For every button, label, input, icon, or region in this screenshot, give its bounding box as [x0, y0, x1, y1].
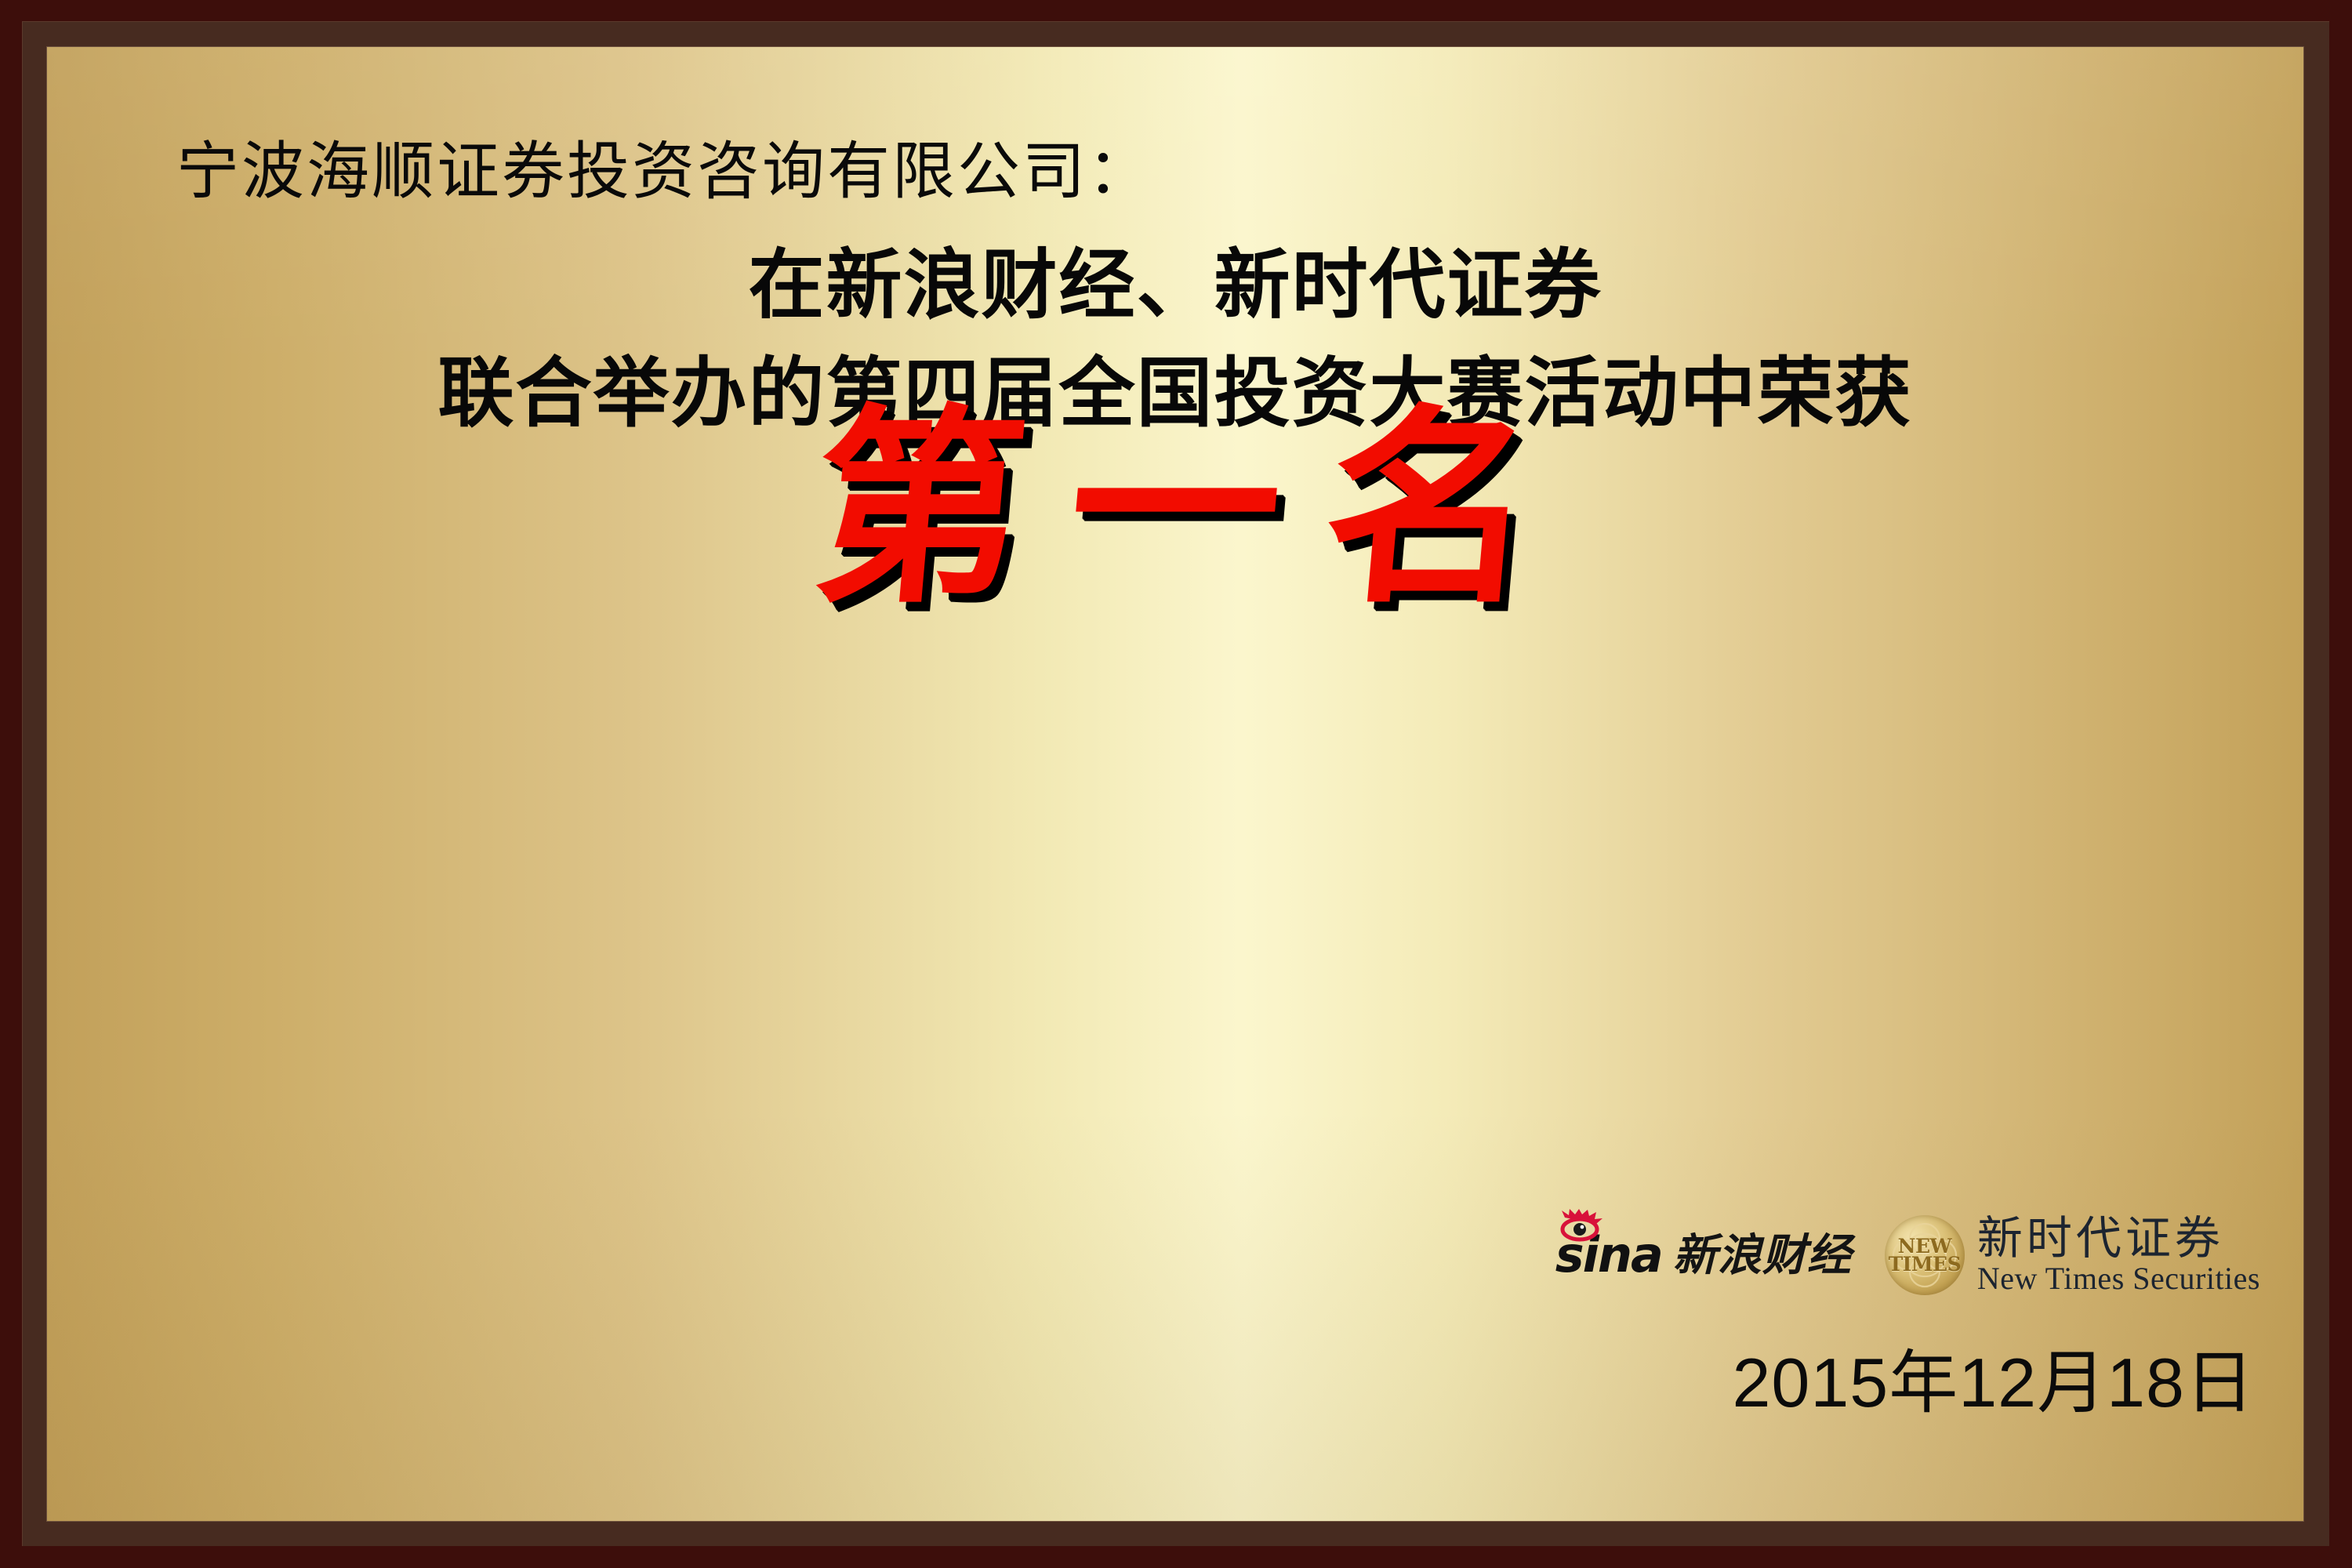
citation-line-1: 在新浪财经、新时代证券: [47, 231, 2303, 339]
recipient-salutation: 宁波海顺证券投资咨询有限公司：: [176, 141, 1152, 204]
medallion-label-line-2: TIMES: [1889, 1255, 1962, 1273]
new-times-name-block: 新时代证券 New Times Securities: [1977, 1216, 2260, 1294]
sponsor-logo-row: sina 新浪财经: [1555, 1215, 2260, 1295]
sina-chinese-name: 新浪财经: [1673, 1236, 1852, 1275]
plaque-face: 宁波海顺证券投资咨询有限公司： 在新浪财经、新时代证券 联合举办的第四届全国投资…: [46, 46, 2304, 1522]
award-date: 2015年12月18日: [1732, 1348, 2255, 1417]
plaque-outer-frame: 宁波海顺证券投资咨询有限公司： 在新浪财经、新时代证券 联合举办的第四届全国投资…: [0, 0, 2352, 1568]
sina-wordmark-group: sina: [1555, 1236, 1662, 1276]
award-rank-text: 第一名: [760, 404, 1590, 614]
new-times-chinese-name: 新时代证券: [1977, 1216, 2260, 1261]
medallion-label: NEW TIMES: [1889, 1237, 1962, 1273]
new-times-medallion-icon: NEW TIMES: [1885, 1215, 1965, 1295]
sina-finance-logo: sina 新浪财经: [1555, 1236, 1852, 1276]
sina-eye-icon: [1560, 1209, 1606, 1242]
plaque-inner-frame: 宁波海顺证券投资咨询有限公司： 在新浪财经、新时代证券 联合举办的第四届全国投资…: [22, 21, 2329, 1546]
award-rank-block: 第一名: [47, 404, 2303, 614]
new-times-english-name: New Times Securities: [1977, 1263, 2260, 1294]
new-times-securities-logo: NEW TIMES 新时代证券 New Times Securities: [1885, 1215, 2260, 1295]
